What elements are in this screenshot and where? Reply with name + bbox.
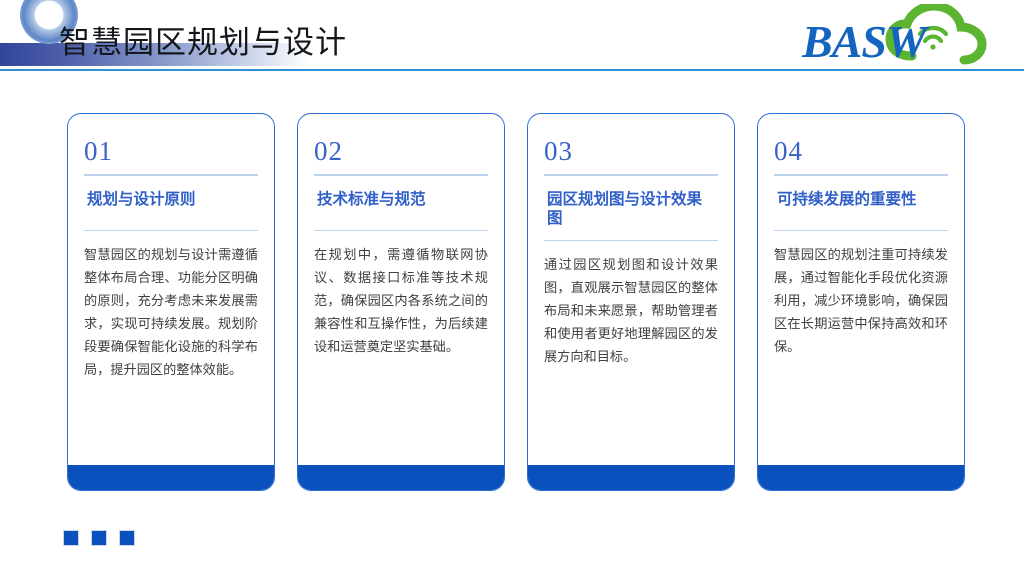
card-content: 01 规划与设计原则 智慧园区的规划与设计需遵循整体布局合理、功能分区明确的原则…: [68, 114, 274, 381]
decorative-squares: [63, 530, 135, 546]
info-card[interactable]: 01 规划与设计原则 智慧园区的规划与设计需遵循整体布局合理、功能分区明确的原则…: [67, 113, 275, 491]
card-title: 技术标准与规范: [314, 176, 488, 218]
info-card[interactable]: 03 园区规划图与设计效果图 通过园区规划图和设计效果图，直观展示智慧园区的整体…: [527, 113, 735, 491]
card-footer-bar: [67, 465, 275, 491]
card-number: 01: [84, 136, 258, 166]
basw-logo: BASW: [794, 4, 1006, 68]
info-card[interactable]: 04 可持续发展的重要性 智慧园区的规划注重可持续发展，通过智能化手段优化资源利…: [757, 113, 965, 491]
card-content: 04 可持续发展的重要性 智慧园区的规划注重可持续发展，通过智能化手段优化资源利…: [758, 114, 964, 358]
card-number: 03: [544, 136, 718, 166]
card-number: 02: [314, 136, 488, 166]
logo-wordmark: BASW: [801, 16, 930, 67]
header-divider: [0, 69, 1024, 71]
card-title: 规划与设计原则: [84, 176, 258, 218]
square-marker: [91, 530, 107, 546]
card-body-text: 通过园区规划图和设计效果图，直观展示智慧园区的整体布局和未来愿景，帮助管理者和使…: [544, 241, 718, 368]
card-body-text: 智慧园区的规划与设计需遵循整体布局合理、功能分区明确的原则，充分考虑未来发展需求…: [84, 231, 258, 381]
square-marker: [119, 530, 135, 546]
card-footer-bar: [757, 465, 965, 491]
info-card[interactable]: 02 技术标准与规范 在规划中，需遵循物联网协议、数据接口标准等技术规范，确保园…: [297, 113, 505, 491]
card-footer-bar: [527, 465, 735, 491]
card-title: 可持续发展的重要性: [774, 176, 948, 218]
card-number: 04: [774, 136, 948, 166]
card-content: 02 技术标准与规范 在规划中，需遵循物联网协议、数据接口标准等技术规范，确保园…: [298, 114, 504, 358]
page-title: 智慧园区规划与设计: [59, 17, 347, 62]
card-body-text: 在规划中，需遵循物联网协议、数据接口标准等技术规范，确保园区内各系统之间的兼容性…: [314, 231, 488, 358]
card-content: 03 园区规划图与设计效果图 通过园区规划图和设计效果图，直观展示智慧园区的整体…: [528, 114, 734, 368]
card-body-text: 智慧园区的规划注重可持续发展，通过智能化手段优化资源利用，减少环境影响，确保园区…: [774, 231, 948, 358]
card-list: 01 规划与设计原则 智慧园区的规划与设计需遵循整体布局合理、功能分区明确的原则…: [67, 113, 965, 491]
card-title: 园区规划图与设计效果图: [544, 176, 718, 228]
card-footer-bar: [297, 465, 505, 491]
square-marker: [63, 530, 79, 546]
